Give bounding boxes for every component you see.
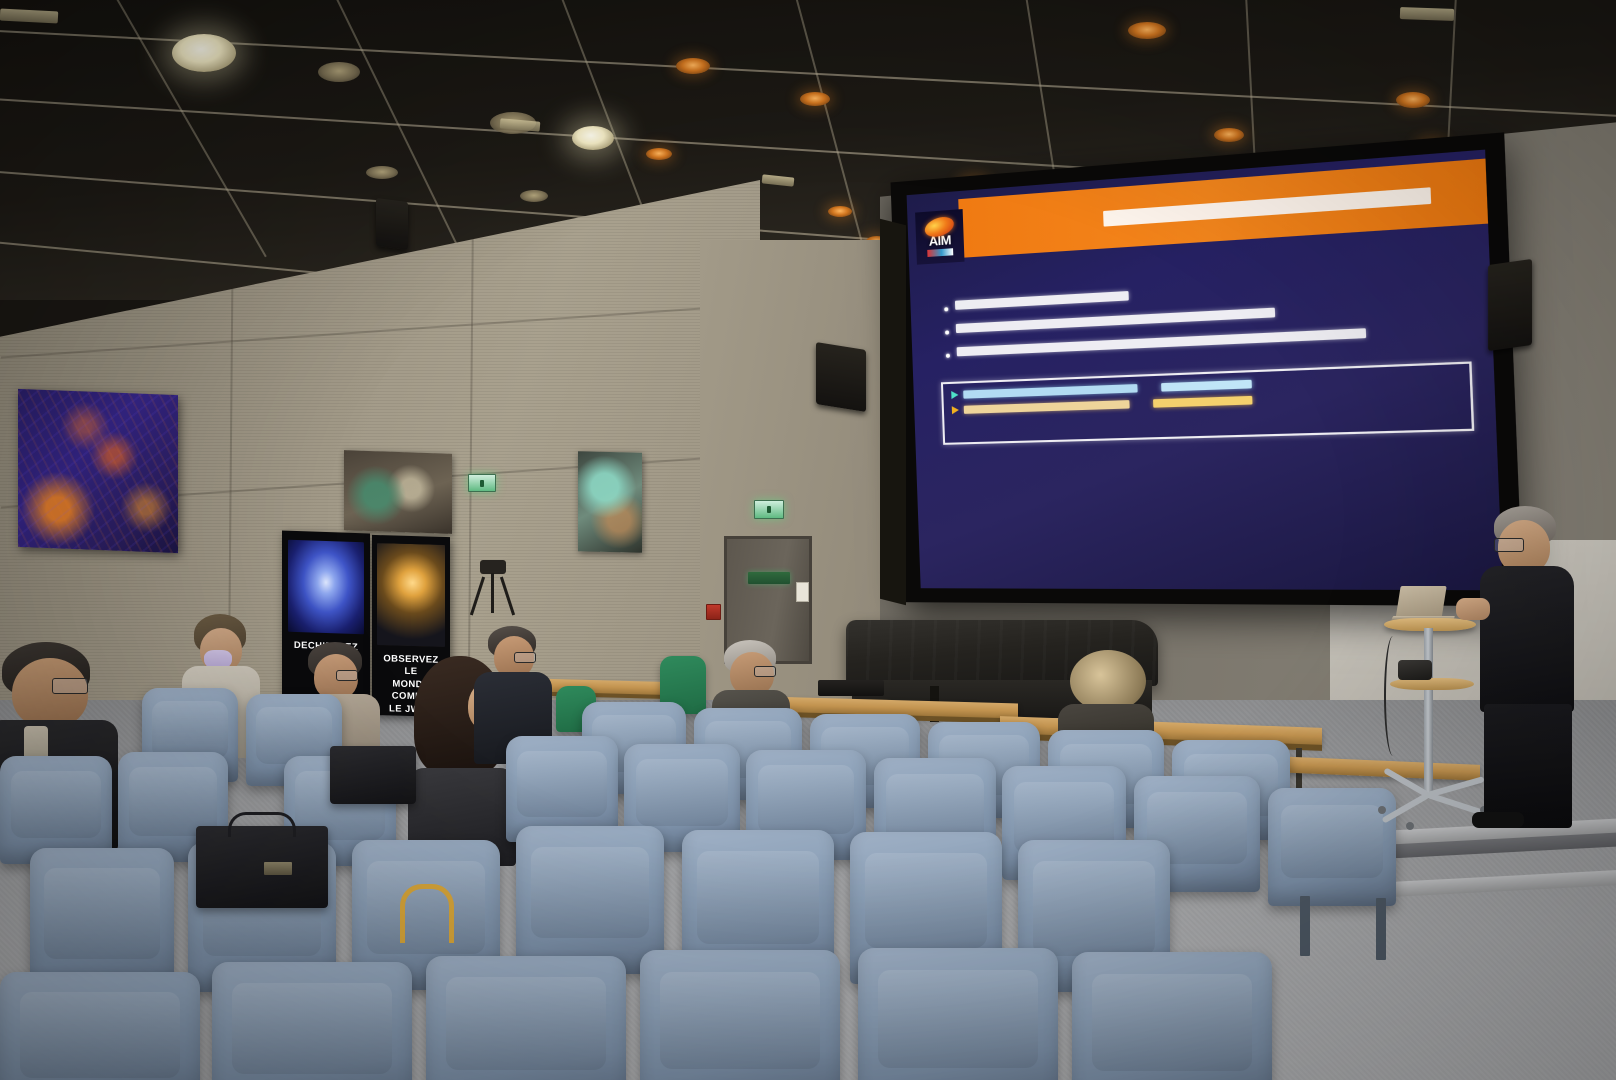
podium-cable (1384, 636, 1402, 756)
podium-equipment (1398, 660, 1432, 680)
podium-post (1424, 628, 1433, 798)
exit-sign-above-door (754, 500, 784, 519)
aim-logo-icon: AIM (915, 209, 964, 265)
door-notice (796, 582, 809, 602)
ceiling-grid-line (776, 0, 866, 254)
orange-downlight (828, 206, 852, 217)
camera-head (480, 560, 506, 574)
presenter-legs (1484, 704, 1572, 828)
exit-sign-wall (468, 474, 496, 492)
slide-highlight-box: 1975 : 1ere satellites high energies : h… (941, 361, 1474, 444)
podium-caster (1378, 806, 1386, 814)
bullet-dot-icon (944, 307, 948, 311)
fire-alarm-button[interactable] (706, 604, 721, 620)
auditorium-seat[interactable] (426, 956, 626, 1080)
slide-surface: HISTORY OF THE CEA IN ASTROPHYSICS AIM 1… (907, 150, 1503, 591)
aim-logo-bar (927, 248, 953, 257)
screen-edge-shadow (880, 219, 906, 605)
orange-downlight (1214, 128, 1244, 142)
recessed-downlight (572, 126, 614, 150)
hair (1070, 650, 1146, 712)
nebula-image (288, 539, 364, 634)
tripod-leg (491, 573, 494, 613)
laptop-screen[interactable] (1395, 586, 1446, 620)
auditorium-seat[interactable] (640, 950, 840, 1080)
lab-photo-print (344, 450, 452, 534)
yellow-handle-tote[interactable] (400, 884, 454, 943)
auditorium-seat[interactable] (0, 972, 200, 1080)
exit-sign-on-door (748, 572, 790, 584)
slide-bullet-text: 19 Decembre 1961 : creation of CNES - Fr… (956, 308, 1275, 333)
presenter (1478, 506, 1608, 828)
piano-bench (818, 680, 884, 696)
glasses (514, 652, 536, 663)
bullet-dot-icon (945, 330, 949, 334)
dim-downlight (318, 62, 360, 82)
auditorium-seat[interactable] (1268, 788, 1396, 906)
highlight-label: 1975 : 1ere satellites high energies : (963, 384, 1137, 399)
projection-screen: HISTORY OF THE CEA IN ASTROPHYSICS AIM 1… (891, 132, 1524, 606)
highlight-value: hot universe (1161, 380, 1252, 392)
dim-downlight (520, 190, 548, 202)
wall-speaker (1488, 259, 1532, 351)
presenter-torso (1480, 566, 1574, 712)
auditorium-seat[interactable] (516, 826, 664, 974)
dim-downlight (366, 166, 398, 179)
podium-caster (1406, 822, 1414, 830)
briefcase-clasp (264, 862, 292, 875)
highlight-label: 1995 : 1ere satellites in infrared : (964, 400, 1130, 414)
auditorium-seat[interactable] (858, 948, 1058, 1080)
chair-leg (1300, 896, 1310, 956)
cosmic-web-print (18, 389, 178, 553)
auditorium-scene: HISTORY OF THE CEA IN ASTROPHYSICS AIM 1… (0, 0, 1616, 1080)
tripod-leg (500, 577, 515, 616)
rect-downlight (0, 8, 58, 23)
running-man-icon (480, 480, 484, 487)
slide-bullet-text: 18 Octobre 1945 : creation of CEA (955, 291, 1129, 310)
bullet-dot-icon (946, 354, 950, 358)
jwst-telescope-image (377, 543, 444, 647)
auditorium-seat[interactable] (1072, 952, 1272, 1080)
camera-tripod (470, 560, 526, 616)
ceiling-speaker (376, 198, 408, 250)
slide-bullet-list: 18 Octobre 1945 : creation of CEA 19 Dec… (944, 272, 1466, 371)
presenter-glasses (1494, 538, 1524, 552)
black-briefcase[interactable] (196, 826, 328, 908)
rect-downlight (1400, 7, 1454, 21)
orange-downlight (1396, 92, 1430, 108)
orange-downlight (800, 92, 830, 106)
wall-seam (1, 303, 759, 358)
arrow-right-icon (951, 391, 958, 399)
slide-title: HISTORY OF THE CEA IN ASTROPHYSICS (1103, 187, 1431, 226)
black-bag-secondary[interactable] (330, 746, 416, 804)
glasses (52, 678, 88, 694)
slide-banner: HISTORY OF THE CEA IN ASTROPHYSICS (958, 159, 1488, 258)
presenter-shoe (1472, 812, 1524, 828)
glasses (754, 666, 776, 677)
recessed-downlight (172, 34, 236, 72)
wall-speaker (816, 342, 866, 412)
arrow-right-icon (952, 406, 959, 414)
slide-bullet-text: 1961 : Start of a CEA research programme… (957, 328, 1367, 356)
rect-downlight (762, 174, 795, 186)
orange-downlight (646, 148, 672, 160)
orange-downlight (1128, 22, 1166, 39)
instrument-photo-print (578, 451, 642, 553)
tripod-leg (470, 577, 485, 616)
orange-downlight (676, 58, 710, 74)
chair-leg (1376, 898, 1386, 960)
presenter-hand (1456, 598, 1490, 620)
highlight-value: cold universe (1153, 396, 1253, 408)
auditorium-seat[interactable] (212, 962, 412, 1080)
briefcase-handle[interactable] (228, 812, 296, 837)
glasses (336, 670, 358, 681)
running-man-icon (767, 506, 771, 513)
